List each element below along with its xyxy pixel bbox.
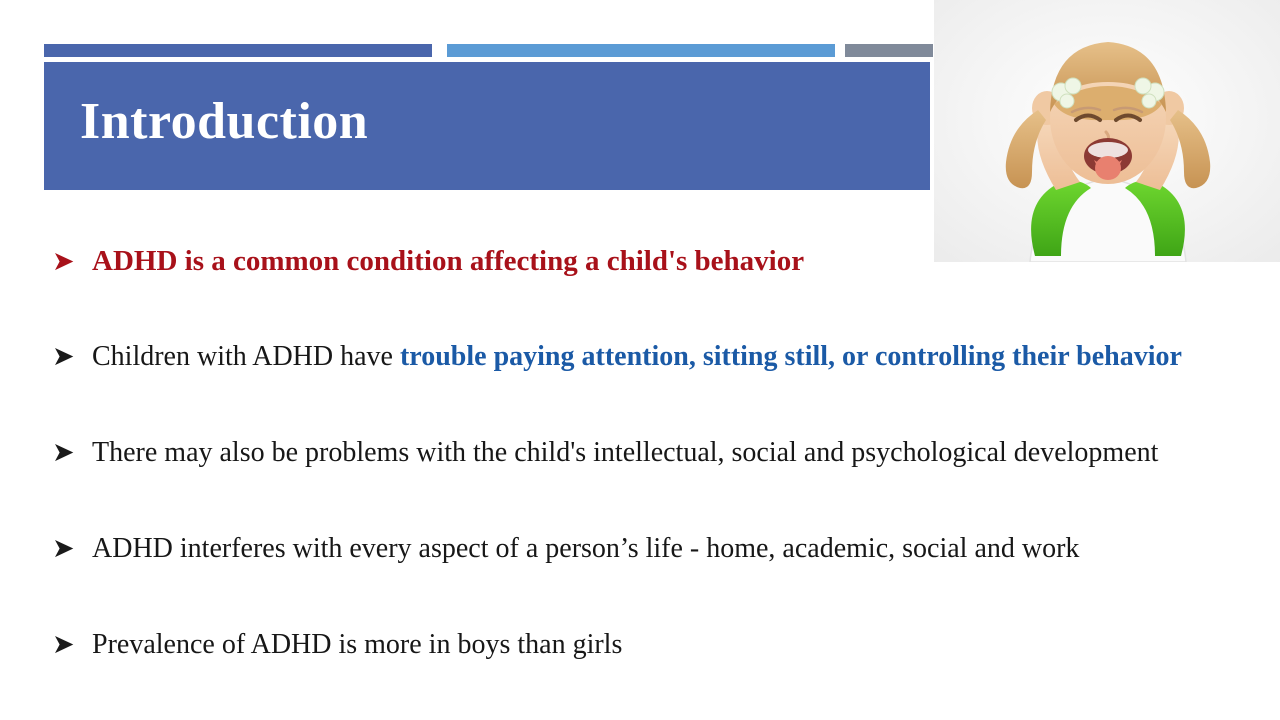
list-item-text: There may also be problems with the chil… (92, 438, 1252, 469)
accent-bar-dark-blue (44, 44, 432, 57)
list-item-text: Prevalence of ADHD is more in boys than … (92, 630, 1252, 661)
accent-bar-gray (845, 44, 933, 57)
list-item-text: Children with ADHD have trouble paying a… (92, 342, 1252, 373)
slide-canvas: Introduction (0, 0, 1280, 720)
list-item: ➤ ADHD interferes with every aspect of a… (52, 534, 1252, 630)
bullet-arrow-icon: ➤ (52, 439, 92, 466)
accent-bar-light-blue (447, 44, 835, 57)
page-title: Introduction (80, 96, 368, 148)
child-photo (934, 0, 1280, 262)
list-item: ➤ Prevalence of ADHD is more in boys tha… (52, 630, 1252, 720)
list-item: ➤ ADHD is a common condition affecting a… (52, 246, 1252, 342)
list-item-text: ADHD interferes with every aspect of a p… (92, 534, 1252, 565)
bullet-list: ➤ ADHD is a common condition affecting a… (52, 246, 1252, 720)
bullet-arrow-icon: ➤ (52, 248, 92, 275)
list-item-text: ADHD is a common condition affecting a c… (92, 246, 1252, 278)
bullet-arrow-icon: ➤ (52, 535, 92, 562)
list-item: ➤ Children with ADHD have trouble paying… (52, 342, 1252, 438)
list-item-text-plain: Children with ADHD have (92, 341, 400, 372)
list-item-text-highlight: trouble paying attention, sitting still,… (400, 341, 1182, 372)
bullet-arrow-icon: ➤ (52, 343, 92, 370)
bullet-arrow-icon: ➤ (52, 631, 92, 658)
list-item: ➤ There may also be problems with the ch… (52, 438, 1252, 534)
